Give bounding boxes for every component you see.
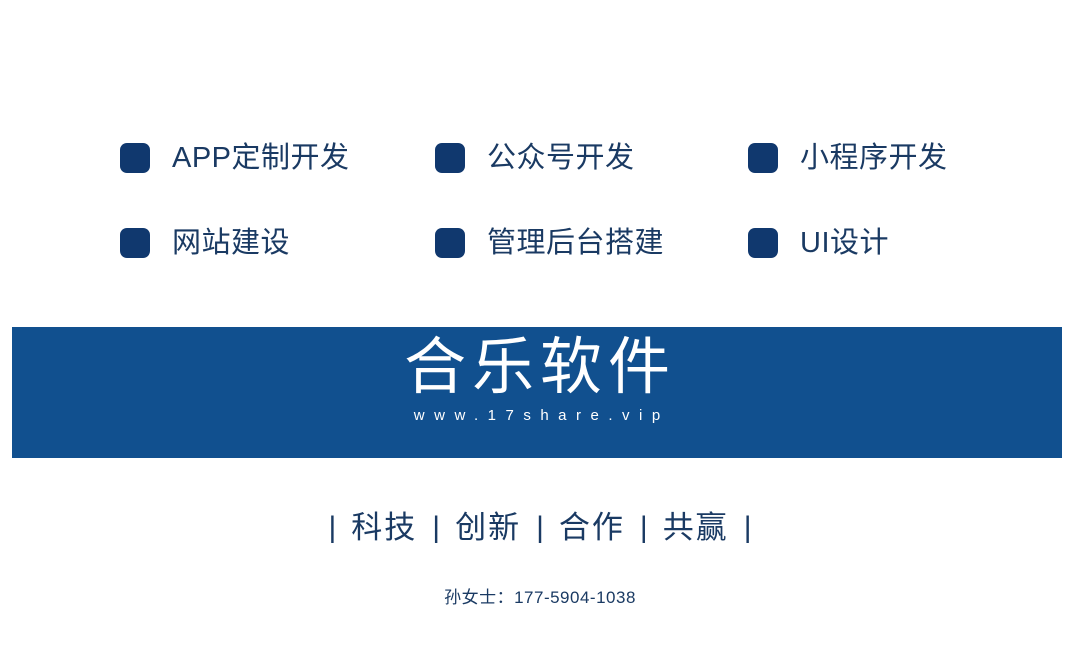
tagline-word-cooperation: 合作 [559,512,625,543]
tagline-separator: | [521,513,559,543]
square-bullet-icon [120,143,150,173]
service-item-app-development[interactable]: APP定制开发 [120,136,435,180]
service-label: 网站建设 [172,229,290,258]
square-bullet-icon [435,143,465,173]
service-label: 公众号开发 [487,144,635,173]
services-row-1: APP定制开发 公众号开发 小程序开发 [120,136,1020,180]
tagline-word-win-win: 共赢 [663,512,729,543]
services-grid: APP定制开发 公众号开发 小程序开发 网站建设 管理后台搭建 [120,136,1020,306]
service-label: UI设计 [800,229,889,258]
tagline-separator: | [729,513,767,543]
square-bullet-icon [120,228,150,258]
square-bullet-icon [435,228,465,258]
square-bullet-icon [748,143,778,173]
service-item-admin-backend-setup[interactable]: 管理后台搭建 [435,221,748,265]
service-item-official-account-development[interactable]: 公众号开发 [435,136,748,180]
tagline-word-technology: 科技 [351,512,417,543]
brand-title: 合乐软件 [398,333,676,402]
tagline-separator: | [314,513,352,543]
service-label: 小程序开发 [800,144,948,173]
service-label: APP定制开发 [172,144,350,173]
contact-line: 孙女士：177-5904-1038 [0,589,1080,606]
service-label: 管理后台搭建 [487,229,664,258]
service-item-mini-program-development[interactable]: 小程序开发 [748,136,1020,180]
tagline-separator: | [417,513,455,543]
tagline-word-innovation: 创新 [455,512,521,543]
service-item-ui-design[interactable]: UI设计 [748,221,1020,265]
square-bullet-icon [748,228,778,258]
service-item-website-construction[interactable]: 网站建设 [120,221,435,265]
brand-banner: 合乐软件 www.17share.vip [12,327,1062,458]
poster-canvas: APP定制开发 公众号开发 小程序开发 网站建设 管理后台搭建 [0,0,1080,658]
tagline: | 科技 | 创新 | 合作 | 共赢 | [0,512,1080,543]
services-row-2: 网站建设 管理后台搭建 UI设计 [120,221,1020,265]
brand-website-url[interactable]: www.17share.vip [404,408,669,423]
tagline-separator: | [625,513,663,543]
